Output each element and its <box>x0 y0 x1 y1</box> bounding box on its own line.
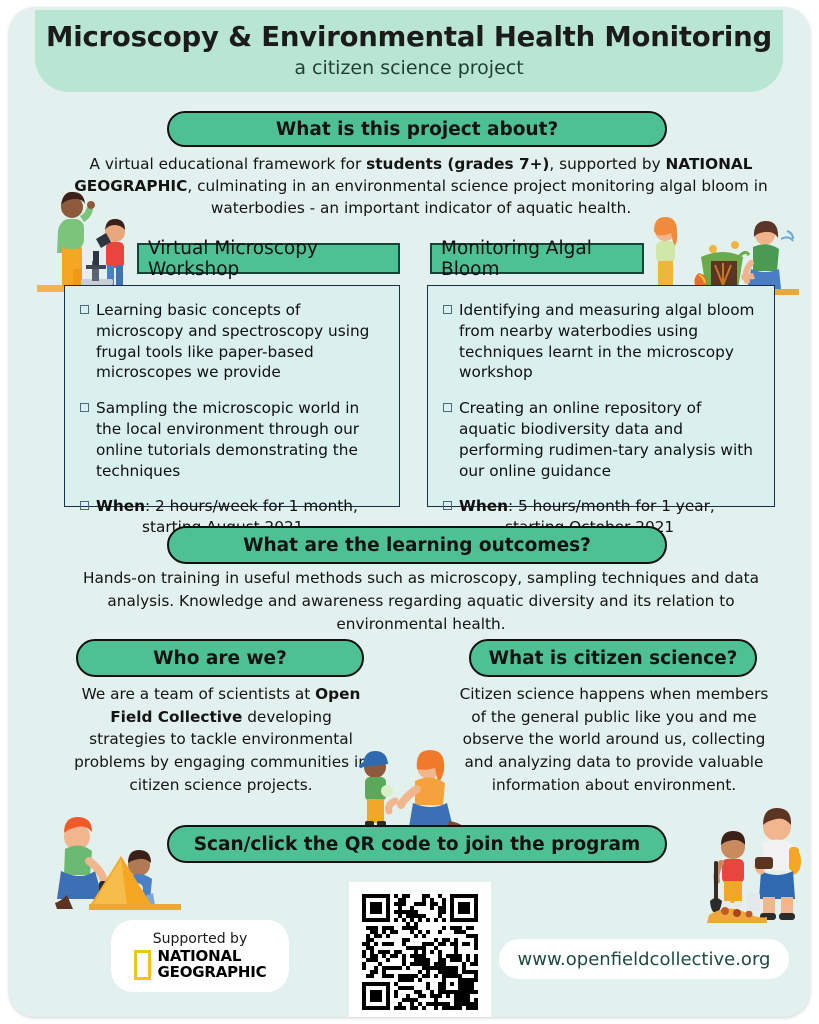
section-pill-scan-qr[interactable]: Scan/click the QR code to join the progr… <box>167 825 667 863</box>
man-and-child-pitching-tent-illustration <box>31 809 191 917</box>
qr-code-container[interactable] <box>349 882 491 1017</box>
website-url-chip[interactable]: www.openfieldcollective.org <box>499 939 789 979</box>
section-pill-about[interactable]: What is this project about? <box>167 111 667 147</box>
when-line-1: : 5 hours/month for 1 year, <box>508 497 715 515</box>
square-bullet-icon <box>80 305 89 314</box>
who-are-we-paragraph: We are a team of scientists at Open Fiel… <box>71 683 371 796</box>
natgeo-yellow-rectangle-icon <box>134 950 151 980</box>
natgeo-word-line-2: GEOGRAPHIC <box>158 965 267 980</box>
when-label: When <box>96 497 145 515</box>
square-bullet-icon <box>443 305 452 314</box>
qr-code-icon[interactable] <box>362 894 478 1010</box>
section-pill-what-is-citizen-science[interactable]: What is citizen science? <box>469 639 757 677</box>
natgeo-wordmark: NATIONAL GEOGRAPHIC <box>158 949 267 980</box>
program-details-box-workshop: Learning basic concepts of microscopy an… <box>64 285 400 507</box>
supported-by-label: Supported by <box>153 932 247 946</box>
program-tag-virtual-microscopy-workshop[interactable]: Virtual Microscopy Workshop <box>137 243 400 274</box>
list-item: Sampling the microscopic world in the lo… <box>79 398 385 481</box>
list-item: Identifying and measuring algal bloom fr… <box>442 300 760 383</box>
page-title: Microscopy & Environmental Health Monito… <box>46 24 772 52</box>
national-geographic-sponsor-badge: Supported by NATIONAL GEOGRAPHIC <box>111 920 289 992</box>
poster-page: Microscopy & Environmental Health Monito… <box>9 7 810 1017</box>
square-bullet-icon <box>80 403 89 412</box>
national-geographic-logo-icon: NATIONAL GEOGRAPHIC <box>134 949 267 980</box>
outcomes-paragraph: Hands-on training in useful methods such… <box>53 567 789 636</box>
children-digging-with-shovel-illustration <box>703 799 810 927</box>
bullet-text: Identifying and measuring algal bloom fr… <box>459 301 754 381</box>
program-tag-monitoring-algal-bloom[interactable]: Monitoring Algal Bloom <box>430 243 644 274</box>
list-item: Learning basic concepts of microscopy an… <box>79 300 385 383</box>
about-paragraph: A virtual educational framework for stud… <box>71 153 771 220</box>
page-subtitle: a citizen science project <box>294 59 523 78</box>
section-pill-learning-outcomes[interactable]: What are the learning outcomes? <box>167 526 667 564</box>
website-url[interactable]: www.openfieldcollective.org <box>518 949 771 970</box>
poster-header-banner: Microscopy & Environmental Health Monito… <box>35 10 783 92</box>
program-details-box-algal-bloom: Identifying and measuring algal bloom fr… <box>427 285 775 507</box>
bullet-text: Sampling the microscopic world in the lo… <box>96 399 359 479</box>
square-bullet-icon <box>443 501 452 510</box>
section-pill-who-are-we[interactable]: Who are we? <box>76 639 364 677</box>
citizen-science-paragraph: Citizen science happens when members of … <box>457 683 771 796</box>
square-bullet-icon <box>80 501 89 510</box>
people-gardening-composting-illustration <box>641 209 799 297</box>
when-line-1: : 2 hours/week for 1 month, <box>145 497 358 515</box>
when-label: When <box>459 497 508 515</box>
bullet-text: Creating an online repository of aquatic… <box>459 399 753 479</box>
square-bullet-icon <box>443 403 452 412</box>
list-item: Creating an online repository of aquatic… <box>442 398 760 481</box>
woman-and-child-planting-illustration <box>331 739 487 835</box>
bullet-text: Learning basic concepts of microscopy an… <box>96 301 369 381</box>
